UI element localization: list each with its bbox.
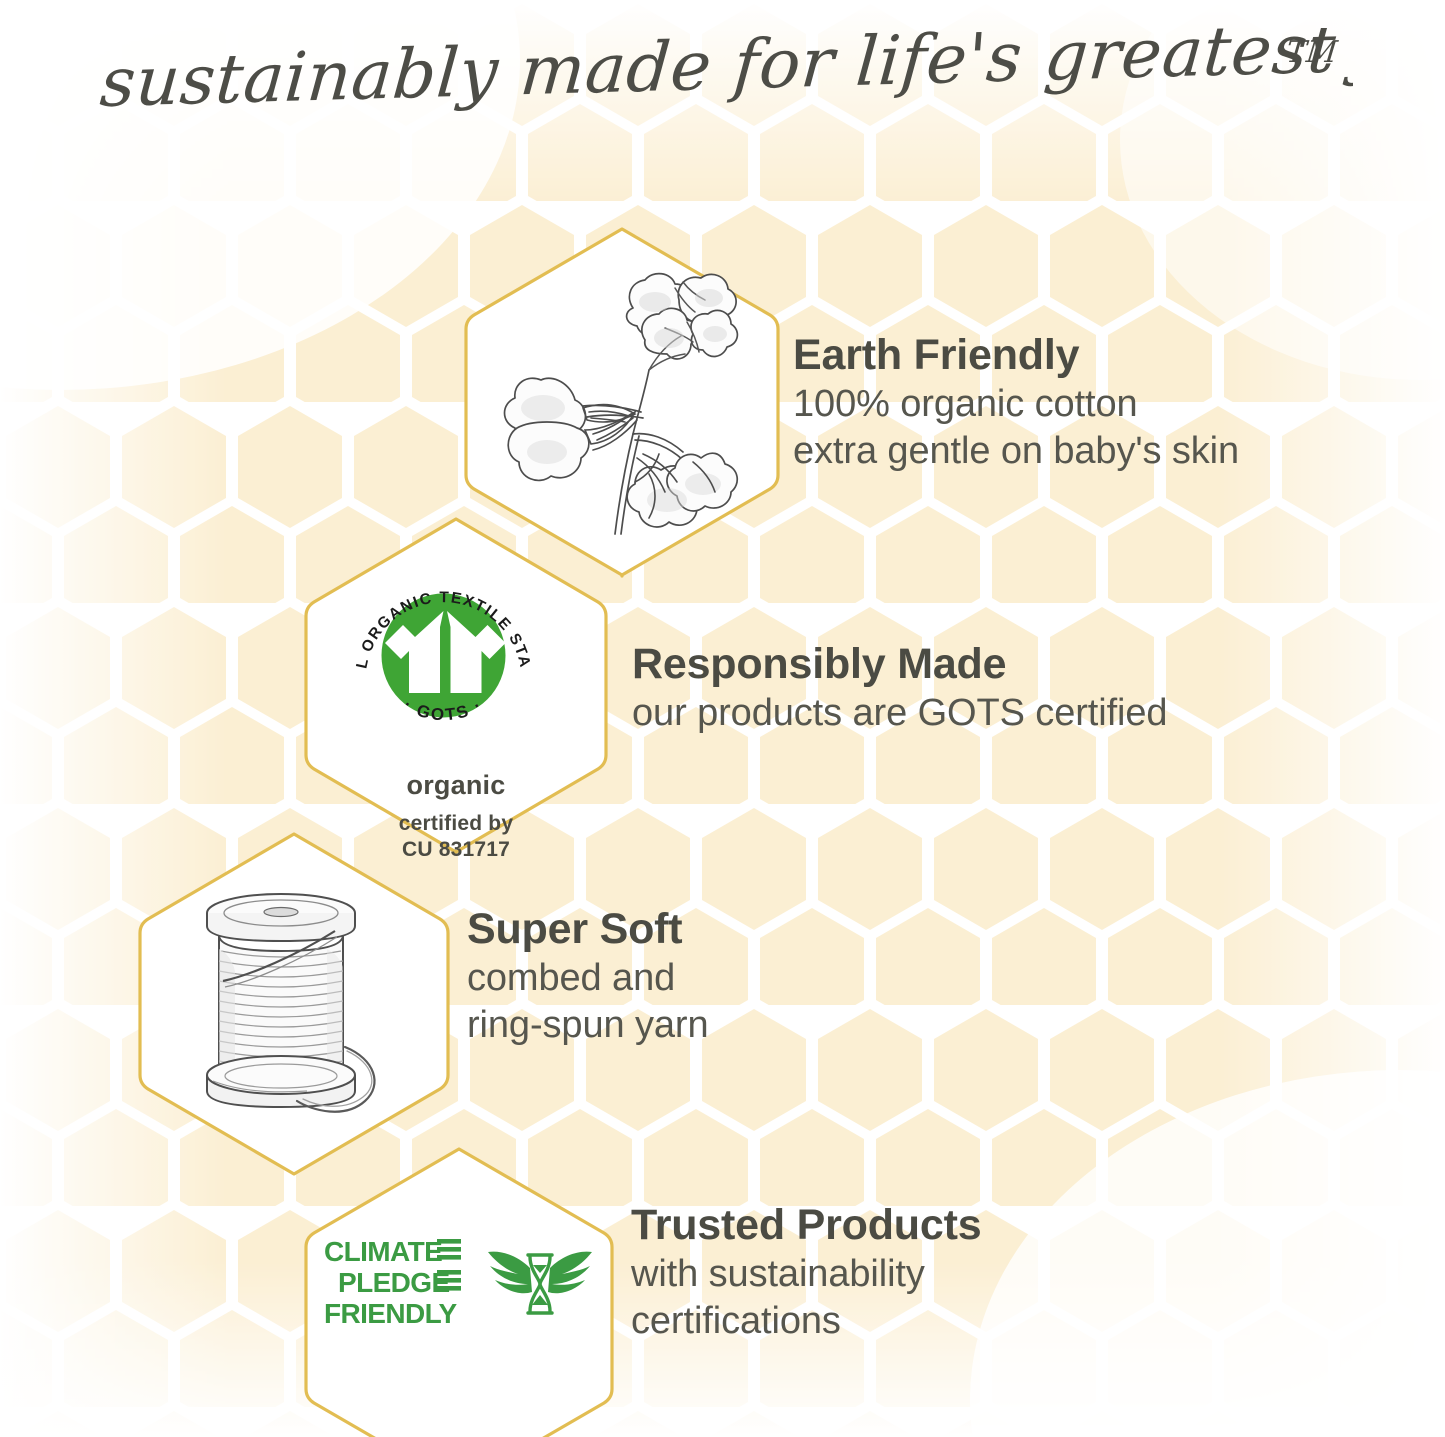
feature-line-1: with sustainability <box>631 1251 981 1298</box>
feature-text-responsibly-made: Responsibly Made our products are GOTS c… <box>632 643 1167 737</box>
feature-line-2: extra gentle on baby's skin <box>793 428 1239 475</box>
tagline-text: sustainably made for life's greatest joy <box>97 28 1353 123</box>
hexagon-content <box>134 828 454 1180</box>
infographic-canvas: sustainably made for life's greatest joy… <box>0 0 1445 1437</box>
feature-line-1: our products are GOTS certified <box>632 690 1167 737</box>
feature-text-super-soft: Super Soft combed and ring-spun yarn <box>467 908 709 1048</box>
gots-certification-icon: GLOBAL ORGANIC TEXTILE STANDARD · GOTS · <box>341 553 546 758</box>
trademark-symbol: TM <box>1284 35 1340 70</box>
feature-hexagon-super-soft[interactable] <box>134 828 454 1180</box>
feature-title: Responsibly Made <box>632 643 1167 687</box>
feature-text-earth-friendly: Earth Friendly 100% organic cotton extra… <box>793 334 1239 474</box>
feature-title: Super Soft <box>467 908 709 952</box>
feature-hexagon-trusted-products[interactable]: CLIMATE PLEDGE FRIENDLY <box>300 1143 618 1437</box>
tagline-script-text: sustainably made for life's greatest joy… <box>93 28 1353 138</box>
gots-badge: GLOBAL ORGANIC TEXTILE STANDARD · GOTS ·… <box>341 553 571 862</box>
feature-line-2: ring-spun yarn <box>467 1002 709 1049</box>
climate-pledge-line-2: PLEDGE <box>338 1267 450 1298</box>
feature-title: Earth Friendly <box>793 334 1239 378</box>
winged-hourglass-icon <box>486 1242 594 1326</box>
thread-spool-sketch-icon <box>179 879 409 1129</box>
feature-line-1: 100% organic cotton <box>793 381 1239 428</box>
climate-pledge-wordmark: CLIMATE PLEDGE FRIENDLY <box>324 1234 472 1334</box>
cotton-branch-sketch-icon <box>497 262 747 542</box>
climate-pledge-line-1: CLIMATE <box>324 1236 442 1267</box>
gots-organic-label: organic <box>341 770 571 801</box>
feature-line-1: combed and <box>467 955 709 1002</box>
feature-line-2: certifications <box>631 1298 981 1345</box>
feature-text-trusted-products: Trusted Products with sustainability cer… <box>631 1204 981 1344</box>
climate-pledge-line-3: FRIENDLY <box>324 1298 458 1329</box>
feature-hexagon-responsibly-made[interactable]: GLOBAL ORGANIC TEXTILE STANDARD · GOTS ·… <box>300 513 612 858</box>
feature-title: Trusted Products <box>631 1204 981 1248</box>
tagline-banner: sustainably made for life's greatest joy… <box>0 28 1445 138</box>
climate-pledge-friendly-badge: CLIMATE PLEDGE FRIENDLY <box>324 1234 594 1334</box>
